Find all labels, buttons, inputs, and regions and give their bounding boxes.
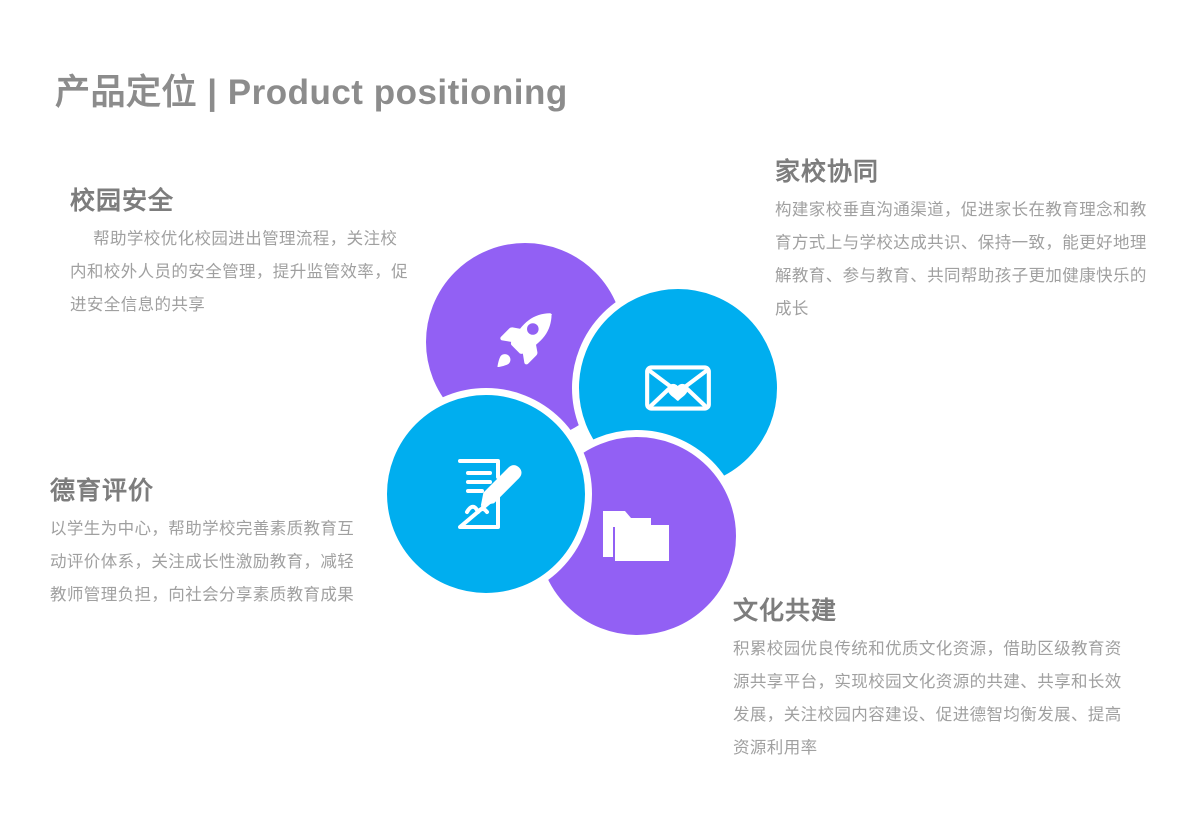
folder-icon	[599, 501, 675, 571]
text-block-campus-safety: 校园安全 帮助学校优化校园进出管理流程，关注校内和校外人员的安全管理，提升监管效…	[70, 186, 410, 322]
text-block-moral-evaluation: 德育评价 以学生为中心，帮助学校完善素质教育互动评价体系，关注成长性激励教育，减…	[50, 476, 368, 612]
circle-cluster-diagram	[379, 236, 785, 642]
envelope-heart-icon	[641, 351, 715, 425]
heading-moral-evaluation: 德育评价	[50, 476, 368, 507]
heading-campus-safety: 校园安全	[70, 186, 410, 217]
rocket-icon	[489, 306, 561, 378]
document-pen-icon	[450, 455, 522, 533]
body-home-school: 构建家校垂直沟通渠道，促进家长在教育理念和教育方式上与学校达成共识、保持一致，能…	[775, 194, 1147, 326]
page-title: 产品定位 | Product positioning	[55, 72, 568, 114]
body-campus-safety: 帮助学校优化校园进出管理流程，关注校内和校外人员的安全管理，提升监管效率，促进安…	[70, 223, 410, 322]
body-moral-evaluation: 以学生为中心，帮助学校完善素质教育互动评价体系，关注成长性激励教育，减轻教师管理…	[50, 513, 368, 612]
circle-moral-evaluation[interactable]	[380, 388, 592, 600]
heading-culture: 文化共建	[733, 596, 1135, 627]
text-block-home-school: 家校协同 构建家校垂直沟通渠道，促进家长在教育理念和教育方式上与学校达成共识、保…	[775, 157, 1147, 326]
slide-canvas: 产品定位 | Product positioning 校园安全 帮助学校优化校园…	[0, 0, 1186, 827]
text-block-culture: 文化共建 积累校园优良传统和优质文化资源，借助区级教育资源共享平台，实现校园文化…	[733, 596, 1135, 765]
heading-home-school: 家校协同	[775, 157, 1147, 188]
body-culture: 积累校园优良传统和优质文化资源，借助区级教育资源共享平台，实现校园文化资源的共建…	[733, 633, 1135, 765]
